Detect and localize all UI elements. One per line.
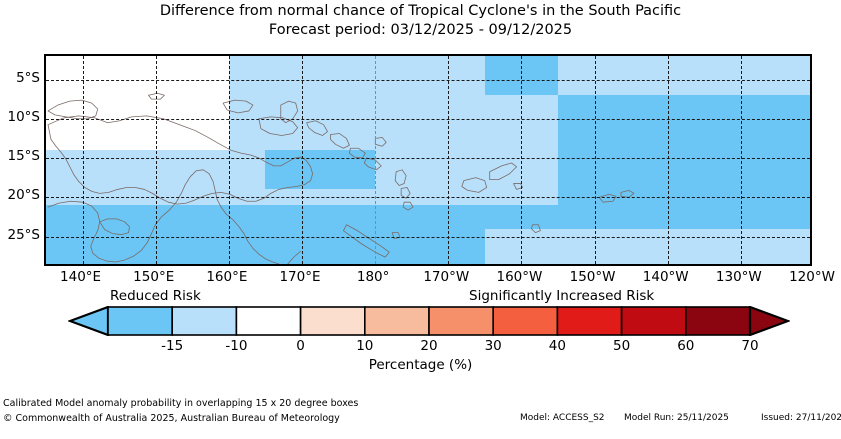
gridline-latitude (46, 80, 810, 81)
anomaly-cell (485, 205, 595, 229)
x-axis-tick-label: 120°W (789, 269, 835, 285)
y-axis-tick-label: 10°S (0, 109, 40, 125)
y-axis-tick-label: 25°S (0, 227, 40, 243)
gridline-longitude (302, 56, 303, 264)
anomaly-cell (485, 229, 595, 264)
colorbar-zone: Reduced Risk Significantly Increased Ris… (0, 288, 841, 378)
colorbar-swatch (172, 307, 236, 335)
x-axis-tick-label: 170°W (423, 269, 469, 285)
gridline-longitude (156, 56, 157, 264)
colorbar-swatch (622, 307, 686, 335)
x-axis-tick-label: 180° (357, 269, 390, 285)
gridline-latitude (46, 197, 810, 198)
x-axis-tick-label: 170°E (279, 269, 320, 285)
footer-issued: Issued: 27/11/2025 (761, 413, 841, 423)
gridline-longitude (595, 56, 596, 264)
anomaly-cell (595, 205, 810, 229)
anomaly-cell (46, 56, 229, 150)
colorbar-tick-label: -15 (161, 338, 183, 354)
colorbar-axis-title: Percentage (%) (0, 357, 841, 373)
anomaly-cell (558, 95, 810, 150)
colorbar-swatch (429, 307, 493, 335)
x-axis-tick-label: 160°E (206, 269, 247, 285)
colorbar-tick-label: 10 (356, 338, 373, 354)
map-inner (46, 56, 810, 264)
x-axis-tick-label: 150°E (133, 269, 174, 285)
colorbar-swatches (68, 306, 790, 336)
gridline-longitude (521, 56, 522, 264)
gridline-dateline (375, 56, 376, 264)
colorbar-tick-label: 70 (741, 338, 758, 354)
colorbar-tick-label: 0 (296, 338, 305, 354)
anomaly-cell (46, 205, 485, 264)
colorbar-swatch (493, 307, 557, 335)
x-axis-tick-label: 140°E (60, 269, 101, 285)
colorbar-swatch (236, 307, 300, 335)
colorbar-swatch (301, 307, 365, 335)
gridline-longitude (448, 56, 449, 264)
x-axis-tick-label: 130°W (716, 269, 762, 285)
colorbar-tick-label: -10 (225, 338, 247, 354)
colorbar-right-note: Significantly Increased Risk (469, 288, 654, 304)
x-axis-tick-label: 160°W (496, 269, 542, 285)
chart-title: Difference from normal chance of Tropica… (0, 2, 841, 21)
gridline-longitude (229, 56, 230, 264)
colorbar-tick-label: 30 (485, 338, 502, 354)
footer-copyright: © Commonwealth of Australia 2025, Austra… (3, 413, 340, 424)
y-axis-tick-label: 5°S (0, 70, 40, 86)
y-axis-tick-label: 15°S (0, 148, 40, 164)
gridline-latitude (46, 158, 810, 159)
colorbar-tick-label: 50 (613, 338, 630, 354)
anomaly-cell (265, 150, 375, 189)
gridline-latitude (46, 237, 810, 238)
map-plot-area (44, 54, 812, 266)
y-axis-tick-label: 20°S (0, 187, 40, 203)
colorbar-swatch (557, 307, 621, 335)
colorbar-under-arrow (70, 307, 108, 335)
gridline-latitude (46, 119, 810, 120)
colorbar-tick-label: 60 (677, 338, 694, 354)
colorbar-left-note: Reduced Risk (110, 288, 201, 304)
footer-method-note: Calibrated Model anomaly probability in … (3, 398, 358, 409)
colorbar (68, 306, 790, 336)
gridline-longitude (668, 56, 669, 264)
footer-model: Model: ACCESS_S2 (520, 413, 605, 423)
colorbar-tick-label: 20 (420, 338, 437, 354)
colorbar-swatch (686, 307, 750, 335)
x-axis-tick-label: 140°W (643, 269, 689, 285)
colorbar-over-arrow (750, 307, 788, 335)
colorbar-swatch (108, 307, 172, 335)
gridline-longitude (741, 56, 742, 264)
footer-model-run: Model Run: 25/11/2025 (624, 413, 729, 423)
title-block: Difference from normal chance of Tropica… (0, 2, 841, 40)
gridline-longitude (83, 56, 84, 264)
colorbar-tick-label: 40 (549, 338, 566, 354)
chart-subtitle: Forecast period: 03/12/2025 - 09/12/2025 (0, 21, 841, 40)
x-axis-tick-label: 150°W (570, 269, 616, 285)
colorbar-swatch (365, 307, 429, 335)
